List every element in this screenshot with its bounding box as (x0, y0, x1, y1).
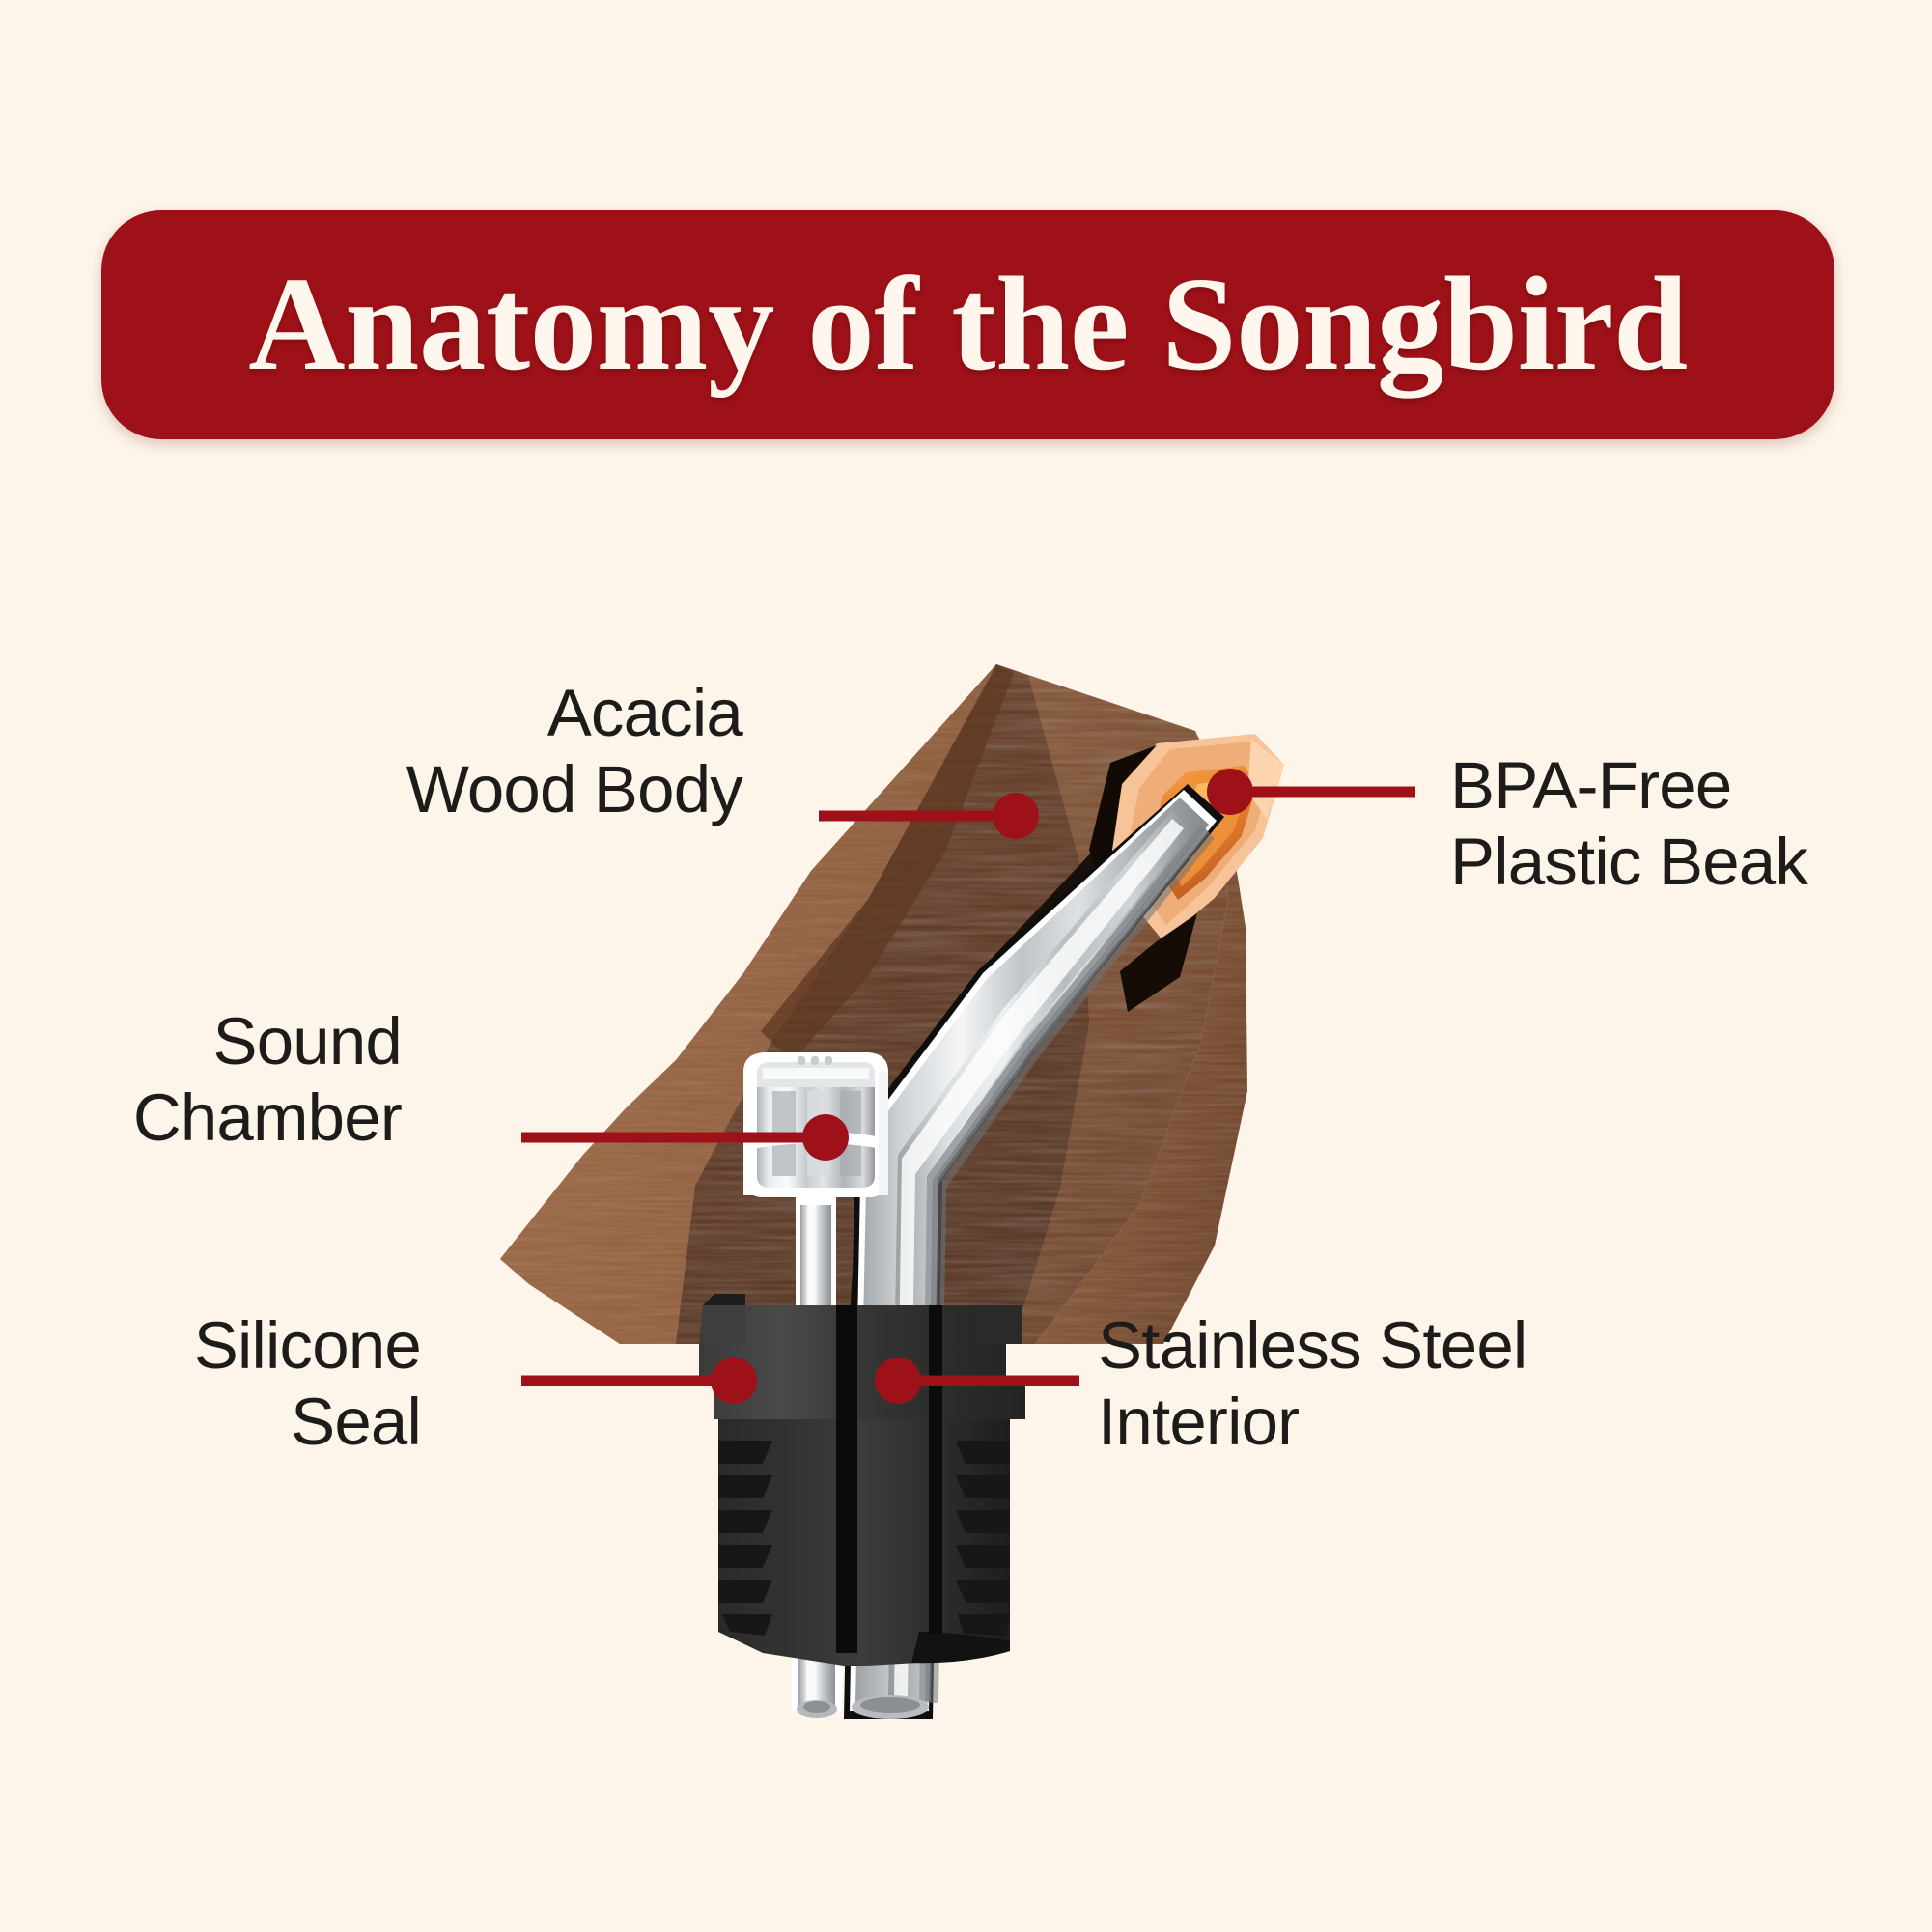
dot-bpa-free-plastic-beak (1207, 769, 1253, 815)
callout-label-stainless-steel-interior: Stainless Steel Interior (1098, 1308, 1526, 1460)
silicone-seal (699, 1294, 1025, 1666)
callout-label-bpa-free-plastic-beak: BPA-Free Plastic Beak (1450, 748, 1807, 900)
callout-label-acacia-wood-body: Acacia Wood Body (406, 676, 742, 827)
anatomy-diagram: Acacia Wood Body Sound Chamber Silicone … (0, 0, 1932, 1932)
callout-label-sound-chamber: Sound Chamber (133, 1004, 402, 1156)
dot-silicone-seal (711, 1358, 757, 1404)
dot-acacia-wood-body (993, 793, 1039, 839)
callout-label-silicone-seal: Silicone Seal (194, 1308, 421, 1460)
dot-sound-chamber (802, 1114, 849, 1161)
cutaway-illustration (0, 0, 1932, 1932)
dot-stainless-steel-interior (875, 1358, 921, 1404)
